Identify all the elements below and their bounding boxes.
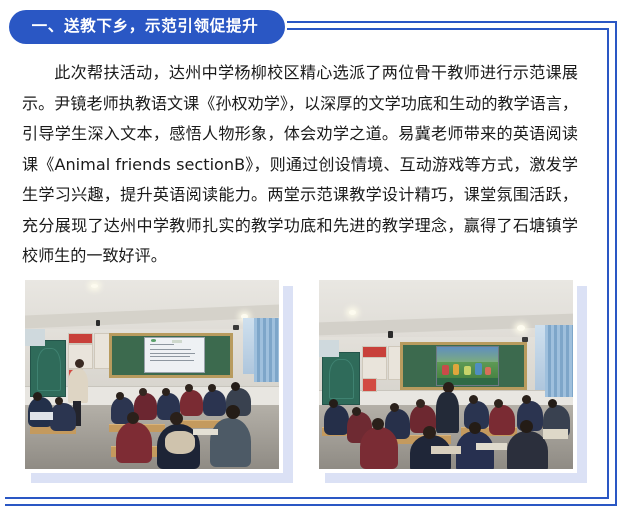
photo-row [21, 276, 597, 473]
photo-frame-right [315, 276, 577, 473]
section-header-pill: 一、送教下乡，示范引领促提升 [9, 10, 285, 44]
photo-frame-left [21, 276, 283, 473]
article-body: 此次帮扶活动，达州中学杨柳校区精心选派了两位骨干教师进行示范课展示。尹镜老师执教… [22, 58, 578, 272]
classroom-photo-english-lesson[interactable] [315, 276, 577, 473]
article-paragraph: 此次帮扶活动，达州中学杨柳校区精心选派了两位骨干教师进行示范课展示。尹镜老师执教… [22, 58, 578, 272]
classroom-photo-chinese-lesson[interactable] [21, 276, 283, 473]
decorative-border-inner-bottom [5, 497, 289, 499]
photo-canvas-right [319, 280, 573, 469]
photo-canvas-left [25, 280, 279, 469]
decorative-border-outer-bottom [5, 504, 289, 506]
section-header-title: 一、送教下乡，示范引领促提升 [32, 19, 259, 35]
